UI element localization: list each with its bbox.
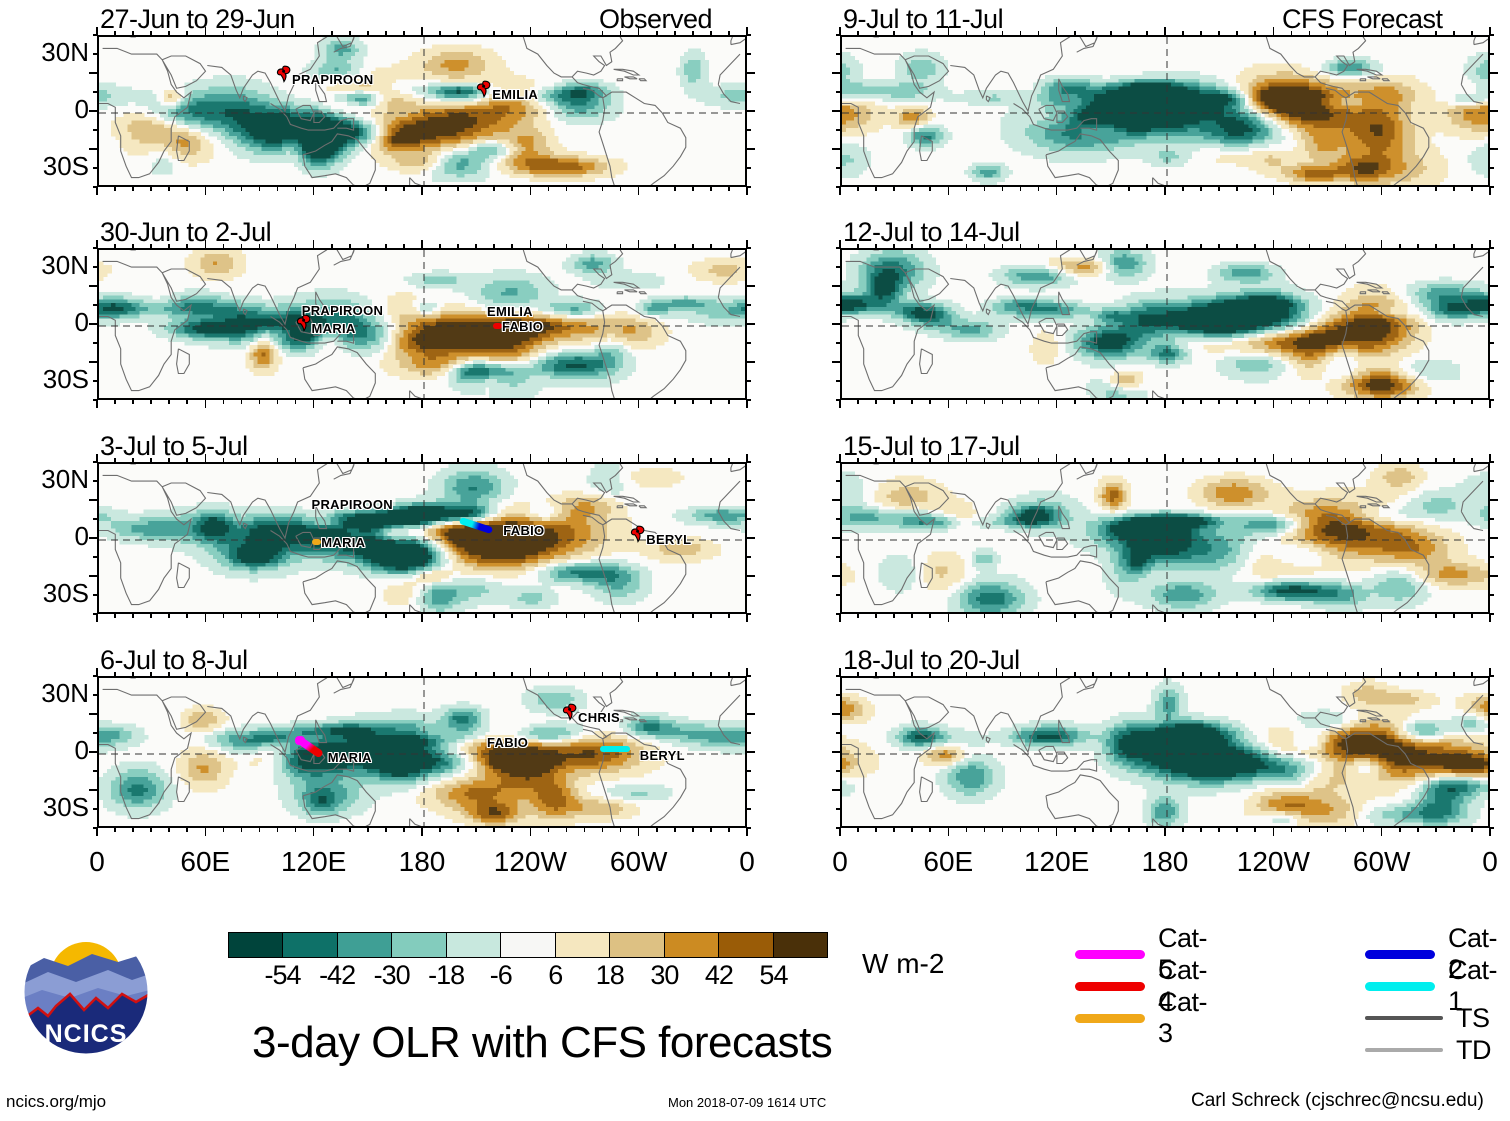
axis-tick: [186, 613, 188, 618]
axis-tick: [1435, 672, 1437, 677]
axis-tick: [548, 186, 550, 191]
axis-tick: [746, 694, 751, 696]
axis-tick: [1435, 827, 1437, 832]
axis-tick: [656, 458, 658, 463]
axis-tick: [966, 458, 968, 463]
axis-tick: [114, 672, 116, 677]
panel-title: 9-Jul to 11-Jul: [843, 4, 1003, 35]
olr-anomaly-map: [840, 462, 1490, 614]
axis-tick: [1254, 672, 1256, 677]
axis-tick: [1417, 31, 1419, 36]
axis-tick: [530, 613, 532, 622]
axis-tick: [984, 186, 986, 191]
axis-tick: [439, 827, 441, 832]
axis-tick: [1236, 31, 1238, 36]
colorbar-segment: [282, 933, 336, 957]
axis-tick: [1273, 399, 1275, 408]
axis-tick: [746, 613, 748, 622]
axis-tick: [205, 613, 207, 622]
axis-tick: [93, 827, 98, 829]
axis-tick: [1002, 186, 1004, 191]
legend-item-cat-3: Cat-3: [1075, 1002, 1215, 1034]
axis-tick: [875, 458, 877, 463]
axis-tick: [1038, 186, 1040, 191]
axis-tick: [1164, 186, 1166, 195]
axis-tick: [746, 285, 755, 287]
axis-tick: [1489, 342, 1494, 344]
storm-name-label: EMILIA: [492, 87, 538, 102]
axis-tick: [150, 186, 152, 191]
axis-tick: [1218, 827, 1220, 832]
axis-tick: [93, 556, 98, 558]
panel-title: 15-Jul to 17-Jul: [843, 431, 1020, 462]
axis-tick: [93, 167, 98, 169]
axis-tick: [457, 186, 459, 191]
axis-tick: [385, 458, 387, 463]
axis-tick: [1327, 399, 1329, 404]
axis-tick: [1146, 672, 1148, 677]
axis-tick: [1435, 613, 1437, 618]
axis-tick: [1291, 672, 1293, 677]
axis-tick: [1345, 244, 1347, 249]
axis-tick: [656, 827, 658, 832]
axis-tick: [1110, 244, 1112, 249]
axis-tick: [168, 827, 170, 832]
axis-tick: [241, 244, 243, 249]
hurricane-symbol: [630, 524, 646, 544]
colorbar-segment: [500, 933, 554, 957]
axis-tick: [836, 808, 841, 810]
axis-tick: [1435, 458, 1437, 463]
axis-tick: [1381, 827, 1383, 836]
axis-tick: [728, 613, 730, 618]
axis-tick: [295, 672, 297, 677]
axis-tick: [1417, 458, 1419, 463]
axis-tick: [836, 480, 841, 482]
storm-track-line: [600, 746, 630, 752]
axis-tick: [674, 827, 676, 832]
axis-tick: [929, 827, 931, 832]
axis-tick: [893, 672, 895, 677]
y-tick-label: 30S: [3, 364, 89, 395]
axis-tick: [857, 31, 859, 36]
axis-tick: [1471, 399, 1473, 404]
axis-tick: [839, 240, 841, 249]
axis-tick: [331, 458, 333, 463]
axis-tick: [1146, 613, 1148, 618]
axis-tick: [746, 668, 748, 677]
axis-tick: [367, 244, 369, 249]
axis-tick: [832, 285, 841, 287]
axis-tick: [313, 27, 315, 36]
colorbar-segment: [773, 933, 827, 957]
olr-anomaly-map: [97, 35, 747, 187]
axis-tick: [1146, 458, 1148, 463]
axis-tick: [277, 31, 279, 36]
axis-tick: [746, 167, 751, 169]
axis-tick: [1453, 827, 1455, 832]
axis-tick: [1327, 458, 1329, 463]
axis-tick: [1110, 458, 1112, 463]
axis-tick: [746, 713, 755, 715]
axis-tick: [403, 672, 405, 677]
axis-tick: [857, 399, 859, 404]
axis-tick: [746, 751, 755, 753]
axis-tick: [1471, 672, 1473, 677]
axis-tick: [93, 304, 98, 306]
axis-tick: [602, 31, 604, 36]
axis-tick: [114, 458, 116, 463]
axis-tick: [1399, 186, 1401, 191]
axis-tick: [836, 675, 841, 677]
axis-tick: [385, 244, 387, 249]
axis-tick: [584, 827, 586, 832]
legend-label: TD: [1456, 1035, 1491, 1066]
hurricane-symbol: [562, 702, 578, 722]
colorbar-segment: [664, 933, 718, 957]
storm-name-label: FABIO: [503, 523, 544, 538]
axis-tick: [114, 399, 116, 404]
axis-tick: [493, 31, 495, 36]
axis-tick: [530, 827, 532, 836]
axis-tick: [984, 827, 986, 832]
axis-tick: [223, 458, 225, 463]
axis-tick: [1056, 613, 1058, 622]
axis-tick: [746, 129, 751, 131]
legend-column-left: Cat-5Cat-4Cat-3: [1075, 938, 1215, 1034]
axis-tick: [836, 518, 841, 520]
axis-tick: [674, 31, 676, 36]
axis-tick: [511, 827, 513, 832]
axis-tick: [1218, 244, 1220, 249]
axis-tick: [96, 186, 98, 195]
axis-tick: [1182, 613, 1184, 618]
axis-tick: [331, 672, 333, 677]
axis-tick: [259, 458, 261, 463]
axis-tick: [1254, 186, 1256, 191]
axis-tick: [313, 668, 315, 677]
colorbar-segment: [718, 933, 772, 957]
axis-tick: [832, 789, 841, 791]
axis-tick: [984, 458, 986, 463]
axis-tick: [911, 672, 913, 677]
axis-tick: [403, 458, 405, 463]
axis-tick: [295, 458, 297, 463]
axis-tick: [1345, 186, 1347, 191]
axis-tick: [1020, 672, 1022, 677]
axis-tick: [836, 266, 841, 268]
axis-tick: [832, 575, 841, 577]
axis-tick: [93, 186, 98, 188]
axis-tick: [1417, 186, 1419, 191]
axis-tick: [1489, 110, 1498, 112]
axis-tick: [93, 694, 98, 696]
axis-tick: [150, 672, 152, 677]
axis-tick: [457, 244, 459, 249]
axis-tick: [367, 672, 369, 677]
axis-tick: [96, 668, 98, 677]
axis-tick: [1002, 827, 1004, 832]
axis-tick: [1164, 399, 1166, 408]
axis-tick: [1002, 672, 1004, 677]
axis-tick: [1381, 399, 1383, 408]
axis-tick: [1164, 240, 1166, 249]
axis-tick: [96, 27, 98, 36]
axis-tick: [93, 613, 98, 615]
axis-tick: [1236, 827, 1238, 832]
axis-tick: [186, 458, 188, 463]
axis-tick: [948, 613, 950, 622]
axis-tick: [602, 672, 604, 677]
axis-tick: [313, 613, 315, 622]
axis-tick: [966, 244, 968, 249]
axis-tick: [984, 244, 986, 249]
axis-tick: [168, 31, 170, 36]
axis-tick: [836, 613, 841, 615]
axis-tick: [457, 399, 459, 404]
storm-name-label: PRAPIROON: [312, 497, 393, 512]
axis-tick: [584, 458, 586, 463]
axis-tick: [89, 361, 98, 363]
axis-tick: [1182, 31, 1184, 36]
axis-tick: [839, 827, 841, 836]
axis-tick: [241, 458, 243, 463]
axis-tick: [1489, 732, 1494, 734]
axis-tick: [966, 186, 968, 191]
axis-tick: [746, 186, 748, 195]
axis-tick: [313, 827, 315, 836]
axis-tick: [836, 732, 841, 734]
axis-tick: [929, 613, 931, 618]
colorbar-segment: [609, 933, 663, 957]
axis-tick: [728, 672, 730, 677]
axis-tick: [1200, 458, 1202, 463]
storm-track-line: [459, 517, 493, 534]
axis-tick: [457, 827, 459, 832]
axis-tick: [1435, 186, 1437, 191]
timestamp-label: Mon 2018-07-09 1614 UTC: [668, 1095, 826, 1110]
axis-tick: [168, 458, 170, 463]
axis-tick: [839, 186, 841, 195]
x-tick-label: 60E: [923, 846, 973, 878]
axis-tick: [674, 399, 676, 404]
axis-tick: [746, 72, 755, 74]
axis-tick: [385, 399, 387, 404]
axis-tick: [710, 458, 712, 463]
axis-tick: [566, 244, 568, 249]
axis-tick: [385, 31, 387, 36]
axis-tick: [1489, 770, 1494, 772]
x-tick-label: 0: [739, 846, 755, 878]
axis-tick: [1489, 537, 1498, 539]
axis-tick: [746, 148, 755, 150]
axis-tick: [1002, 31, 1004, 36]
panel-title: 30-Jun to 2-Jul: [100, 217, 271, 248]
x-axis-labels-forecast: 060E120E180120W60W0: [840, 846, 1490, 882]
axis-tick: [984, 31, 986, 36]
storm-track-marker: [493, 323, 502, 329]
x-tick-label: 180: [1142, 846, 1189, 878]
axis-tick: [929, 244, 931, 249]
axis-tick: [832, 361, 841, 363]
axis-tick: [857, 458, 859, 463]
colorbar-tick-label: -6: [490, 960, 512, 991]
axis-tick: [584, 672, 586, 677]
axis-tick: [403, 186, 405, 191]
axis-tick: [530, 399, 532, 408]
axis-tick: [1489, 186, 1494, 188]
axis-tick: [1110, 31, 1112, 36]
axis-tick: [1309, 458, 1311, 463]
axis-tick: [150, 244, 152, 249]
axis-tick: [241, 827, 243, 832]
axis-tick: [1363, 672, 1365, 677]
axis-tick: [746, 27, 748, 36]
axis-tick: [493, 458, 495, 463]
axis-tick: [1200, 827, 1202, 832]
axis-tick: [1417, 827, 1419, 832]
y-tick-label: 30S: [3, 578, 89, 609]
axis-tick: [857, 244, 859, 249]
axis-tick: [168, 399, 170, 404]
axis-tick: [331, 827, 333, 832]
axis-tick: [566, 186, 568, 191]
axis-tick: [93, 770, 98, 772]
axis-tick: [839, 399, 841, 408]
axis-tick: [602, 458, 604, 463]
axis-tick: [1236, 244, 1238, 249]
colorbar-tick-label: -18: [428, 960, 464, 991]
x-tick-label: 120E: [1024, 846, 1089, 878]
axis-tick: [1002, 458, 1004, 463]
site-url-label[interactable]: ncics.org/mjo: [6, 1092, 106, 1112]
axis-tick: [385, 613, 387, 618]
axis-tick: [295, 613, 297, 618]
axis-tick: [132, 31, 134, 36]
axis-tick: [1453, 458, 1455, 463]
olr-anomaly-map: [840, 248, 1490, 400]
axis-tick: [548, 399, 550, 404]
axis-tick: [620, 186, 622, 191]
legend-color-swatch: [1365, 950, 1435, 959]
axis-tick: [1471, 613, 1473, 618]
axis-tick: [313, 399, 315, 408]
axis-tick: [530, 454, 532, 463]
axis-tick: [1489, 186, 1491, 195]
axis-tick: [1489, 694, 1494, 696]
axis-tick: [548, 31, 550, 36]
y-tick-label: 30N: [3, 464, 89, 495]
x-tick-label: 0: [832, 846, 848, 878]
axis-tick: [548, 827, 550, 832]
axis-tick: [277, 613, 279, 618]
axis-tick: [602, 613, 604, 618]
axis-tick: [331, 31, 333, 36]
axis-tick: [602, 827, 604, 832]
axis-tick: [692, 827, 694, 832]
axis-tick: [1327, 31, 1329, 36]
axis-tick: [1200, 672, 1202, 677]
axis-tick: [89, 499, 98, 501]
axis-tick: [656, 613, 658, 618]
axis-tick: [1435, 244, 1437, 249]
axis-tick: [836, 770, 841, 772]
axis-tick: [893, 244, 895, 249]
axis-tick: [511, 458, 513, 463]
axis-tick: [746, 186, 751, 188]
axis-tick: [132, 613, 134, 618]
axis-tick: [1291, 827, 1293, 832]
axis-tick: [1110, 613, 1112, 618]
axis-tick: [1020, 458, 1022, 463]
axis-tick: [948, 668, 950, 677]
axis-tick: [385, 186, 387, 191]
axis-tick: [746, 827, 751, 829]
axis-tick: [277, 458, 279, 463]
colorbar-gradient: [228, 932, 828, 958]
y-tick-label: 0: [3, 94, 89, 125]
axis-tick: [1327, 186, 1329, 191]
axis-tick: [1489, 518, 1494, 520]
hurricane-symbol: [296, 313, 312, 333]
axis-tick: [1345, 827, 1347, 832]
axis-tick: [1038, 672, 1040, 677]
column-header-observed: Observed: [599, 4, 712, 35]
axis-tick: [1471, 31, 1473, 36]
axis-tick: [620, 31, 622, 36]
legend-column-right: Cat-2Cat-1TSTD: [1365, 938, 1505, 1066]
axis-tick: [875, 244, 877, 249]
axis-tick: [1273, 27, 1275, 36]
axis-tick: [948, 27, 950, 36]
axis-tick: [223, 399, 225, 404]
axis-tick: [93, 461, 98, 463]
axis-tick: [1489, 72, 1498, 74]
axis-tick: [1200, 244, 1202, 249]
axis-tick: [1489, 323, 1498, 325]
axis-tick: [89, 110, 98, 112]
axis-tick: [241, 613, 243, 618]
axis-tick: [1435, 31, 1437, 36]
axis-tick: [349, 186, 351, 191]
axis-tick: [1038, 399, 1040, 404]
axis-tick: [839, 454, 841, 463]
axis-tick: [150, 613, 152, 618]
axis-tick: [566, 399, 568, 404]
axis-tick: [132, 186, 134, 191]
axis-tick: [132, 244, 134, 249]
axis-tick: [96, 827, 98, 836]
axis-tick: [349, 458, 351, 463]
axis-tick: [1381, 668, 1383, 677]
axis-tick: [475, 399, 477, 404]
axis-tick: [439, 244, 441, 249]
axis-tick: [656, 244, 658, 249]
axis-tick: [295, 399, 297, 404]
axis-tick: [439, 31, 441, 36]
axis-tick: [1417, 672, 1419, 677]
axis-tick: [1381, 240, 1383, 249]
axis-tick: [259, 31, 261, 36]
axis-tick: [93, 380, 98, 382]
axis-tick: [1020, 244, 1022, 249]
axis-tick: [93, 480, 98, 482]
panel-title: 3-Jul to 5-Jul: [100, 431, 248, 462]
axis-tick: [984, 399, 986, 404]
olr-anomaly-map: [840, 35, 1490, 187]
axis-tick: [475, 613, 477, 618]
x-tick-label: 60E: [180, 846, 230, 878]
